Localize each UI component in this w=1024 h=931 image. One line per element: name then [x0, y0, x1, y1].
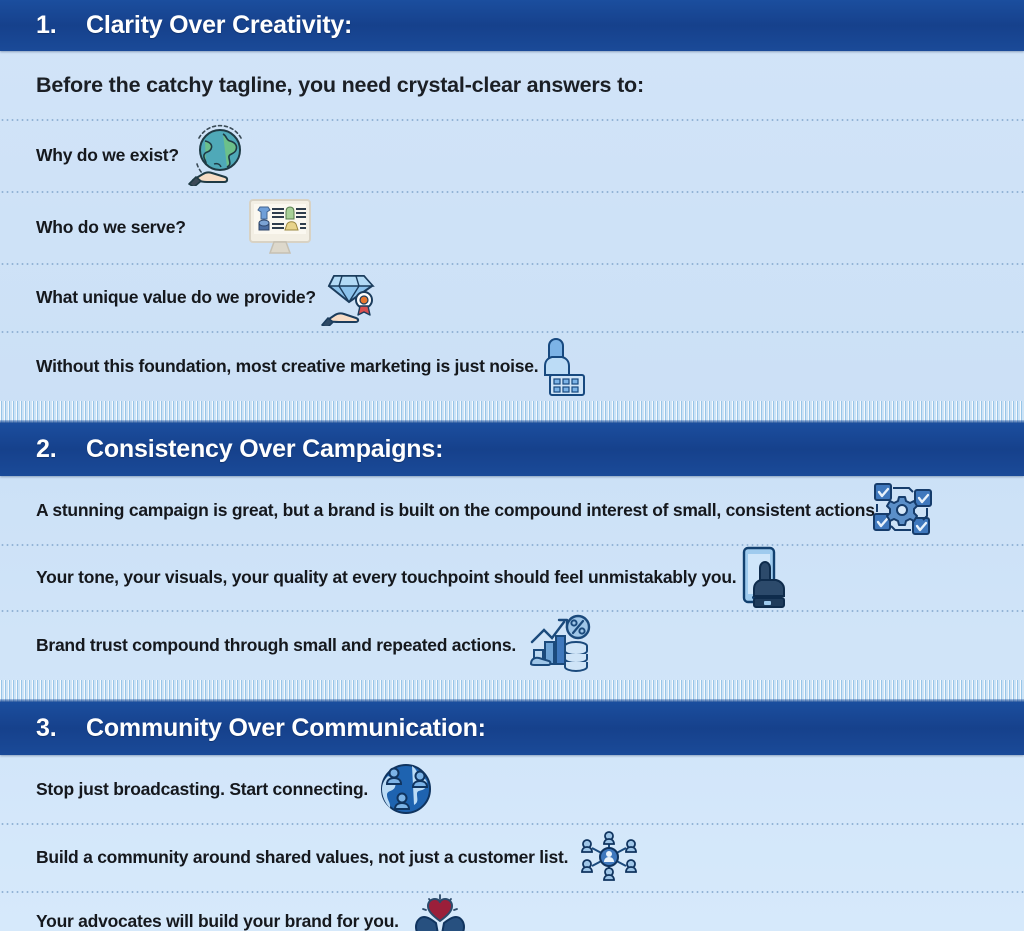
section-number-3: 3. [36, 714, 86, 743]
people-network-icon [578, 828, 640, 886]
hand-tapping-keypad-icon [538, 335, 592, 397]
section-header-2: 2. Consistency Over Campaigns: [0, 423, 1024, 476]
section-2-row-3: Brand trust compound through small and r… [0, 610, 1024, 680]
section-1-row-4: Without this foundation, most creative m… [0, 331, 1024, 401]
section-header-3: 3. Community Over Communication: [0, 702, 1024, 755]
section-2-row-1: A stunning campaign is great, but a bran… [0, 476, 1024, 544]
section-3-row-2-text: Build a community around shared values, … [36, 847, 568, 868]
section-1-row-1: Why do we exist? [0, 119, 1024, 191]
section-divider-band-1 [0, 401, 1024, 423]
infographic-page: 1. Clarity Over Creativity: Before the c… [0, 0, 1024, 931]
section-1-row-3-text: What unique value do we provide? [36, 287, 316, 308]
section-number-2: 2. [36, 435, 86, 464]
section-3-row-3: Your advocates will build your brand for… [0, 891, 1024, 931]
globe-people-icon [378, 760, 434, 818]
section-header-1: 1. Clarity Over Creativity: [0, 0, 1024, 51]
section-2-row-2: Your tone, your visuals, your quality at… [0, 544, 1024, 610]
section-1-lead-row: Before the catchy tagline, you need crys… [0, 51, 1024, 119]
section-divider-band-2 [0, 680, 1024, 702]
section-number-1: 1. [36, 11, 86, 40]
heart-in-hands-icon [409, 893, 471, 931]
hand-tapping-phone-icon [738, 546, 796, 608]
section-1-lead-text: Before the catchy tagline, you need crys… [36, 73, 644, 98]
section-3-row-2: Build a community around shared values, … [0, 823, 1024, 891]
section-1-row-3: What unique value do we provide? [0, 263, 1024, 331]
product-catalog-monitor-icon [244, 196, 316, 258]
section-2-row-3-text: Brand trust compound through small and r… [36, 635, 516, 656]
section-1-row-1-text: Why do we exist? [36, 145, 179, 166]
gear-workflow-checkmarks-icon [871, 480, 935, 540]
section-1-row-4-text: Without this foundation, most creative m… [36, 356, 538, 377]
section-3-row-1-text: Stop just broadcasting. Start connecting… [36, 779, 368, 800]
section-1-row-2-text: Who do we serve? [36, 217, 186, 238]
globe-in-hand-icon [183, 124, 255, 186]
section-title-2: Consistency Over Campaigns: [86, 435, 443, 464]
section-3-row-1: Stop just broadcasting. Start connecting… [0, 755, 1024, 823]
section-title-1: Clarity Over Creativity: [86, 11, 352, 40]
section-title-3: Community Over Communication: [86, 714, 486, 743]
section-1-row-2: Who do we serve? [0, 191, 1024, 263]
diamond-in-hand-icon [320, 268, 382, 326]
section-2-row-1-text: A stunning campaign is great, but a bran… [36, 500, 875, 521]
section-3-row-3-text: Your advocates will build your brand for… [36, 911, 399, 931]
growth-chart-coins-percent-icon [526, 614, 592, 676]
section-2-row-2-text: Your tone, your visuals, your quality at… [36, 567, 736, 588]
